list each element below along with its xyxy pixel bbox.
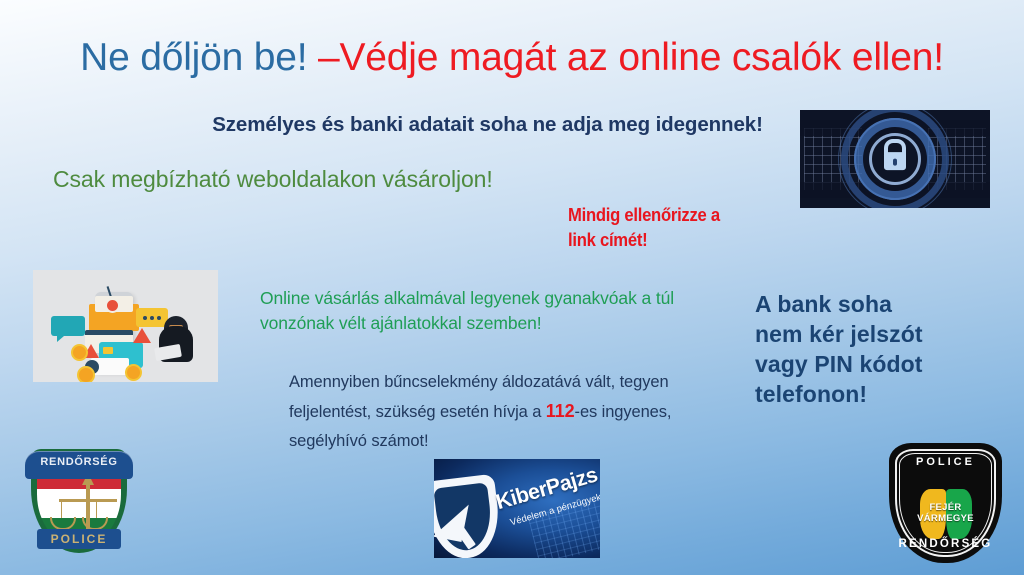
message-check-link-line1: Mindig ellenőrizze a	[568, 203, 748, 228]
scales-beam-icon	[59, 499, 117, 502]
warning-triangle-icon	[133, 328, 151, 343]
message-trusted-sites: Csak megbízható weboldalakon vásároljon!	[53, 166, 493, 193]
message-suspicious-offers: Online vásárlás alkalmával legyenek gyan…	[260, 286, 720, 336]
badge-bottom-text: POLICE	[37, 529, 121, 549]
padlock-keyhole-icon	[893, 159, 897, 166]
kiberpajzs-banner: KiberPajzs Védelem a pénzügyekben	[434, 459, 600, 558]
patch-top-text: POLICE	[889, 456, 1002, 468]
badge-top-text: RENDŐRSÉG	[25, 451, 133, 479]
kiberpajzs-inner: KiberPajzs Védelem a pénzügyekben	[434, 459, 600, 558]
hacker-phishing-illustration	[33, 270, 218, 382]
county-map-label-line2: VÁRMEGYE	[917, 514, 974, 525]
message-bank-never-asks-line2: nem kér jelszót	[755, 320, 1000, 350]
scales-chain-left-icon	[61, 500, 62, 518]
county-map-label: FEJÉR VÁRMEGYE	[917, 503, 974, 525]
message-check-link: Mindig ellenőrizze a link címét!	[568, 203, 748, 252]
coin-icon	[71, 344, 88, 361]
fejer-county-map-icon: FEJÉR VÁRMEGYE	[920, 489, 972, 539]
alert-dot-icon	[105, 298, 120, 313]
scales-chain-right-icon	[96, 500, 97, 518]
cyber-lock-photo	[800, 110, 990, 208]
emergency-number: 112	[546, 401, 575, 421]
chat-bubble-right-icon	[136, 308, 168, 327]
message-suspicious-offers-line1: Online vásárlás alkalmával legyenek gyan…	[260, 288, 651, 308]
hungarian-police-badge: RENDŐRSÉG POLICE	[23, 443, 135, 561]
message-bank-never-asks-line3: vagy PIN kódot	[755, 350, 1000, 380]
message-bank-never-asks-line4: telefonon!	[755, 380, 1000, 410]
fejer-county-police-patch: POLICE FEJÉR VÁRMEGYE RENDŐRSÉG	[889, 443, 1002, 563]
patch-bottom-text: RENDŐRSÉG	[889, 538, 1002, 550]
page-title: Ne dőljön be! –Védje magát az online csa…	[0, 36, 1024, 80]
message-report-crime: Amennyiben bűncselekmény áldozatává vált…	[289, 368, 714, 456]
message-check-link-line2: link címét!	[568, 228, 748, 253]
awareness-poster-slide: Ne dőljön be! –Védje magát az online csa…	[0, 0, 1024, 575]
coin-secondary-icon	[77, 366, 95, 382]
page-title-blue-part: Ne dőljön be!	[80, 36, 318, 79]
chat-bubble-left-icon	[51, 316, 85, 336]
message-bank-never-asks: A bank soha nem kér jelszót vagy PIN kód…	[755, 290, 1000, 410]
message-bank-never-asks-line1: A bank soha	[755, 290, 1000, 320]
coin-tertiary-icon	[125, 364, 142, 381]
page-title-red-part: –Védje magát az online csalók ellen!	[318, 36, 944, 79]
